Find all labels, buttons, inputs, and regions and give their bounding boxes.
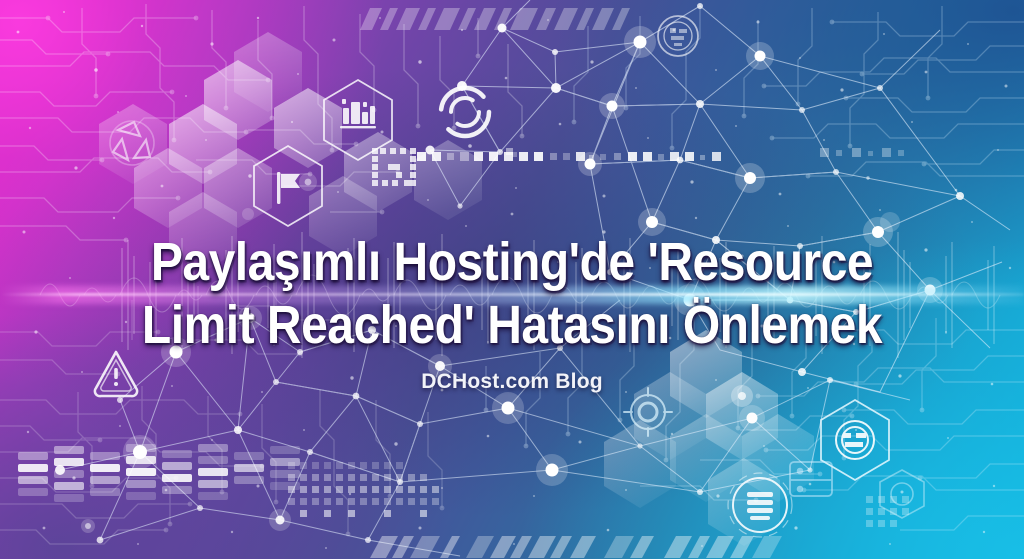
- loading-ring-icon: [441, 88, 489, 136]
- recycle-icon: [110, 121, 154, 165]
- database-icon: [728, 473, 792, 537]
- pixel-chip-icon: [372, 148, 416, 186]
- page-title: Paylaşımlı Hosting'de 'Resource Limit Re…: [0, 232, 1024, 357]
- gear-ring-icon: [624, 388, 672, 436]
- flag-icon: [277, 172, 300, 204]
- globe-icon: [658, 16, 698, 56]
- blog-banner-image: Paylaşımlı Hosting'de 'Resource Limit Re…: [0, 0, 1024, 559]
- target-ring-icon: [880, 470, 924, 518]
- storage-box-icon: [790, 462, 832, 496]
- banner-text-block: Paylaşımlı Hosting'de 'Resource Limit Re…: [0, 232, 1024, 344]
- globe-network-icon: [836, 421, 874, 459]
- subtitle-brand: DCHost.com Blog: [0, 370, 1024, 394]
- server-rack-icon: [340, 99, 376, 128]
